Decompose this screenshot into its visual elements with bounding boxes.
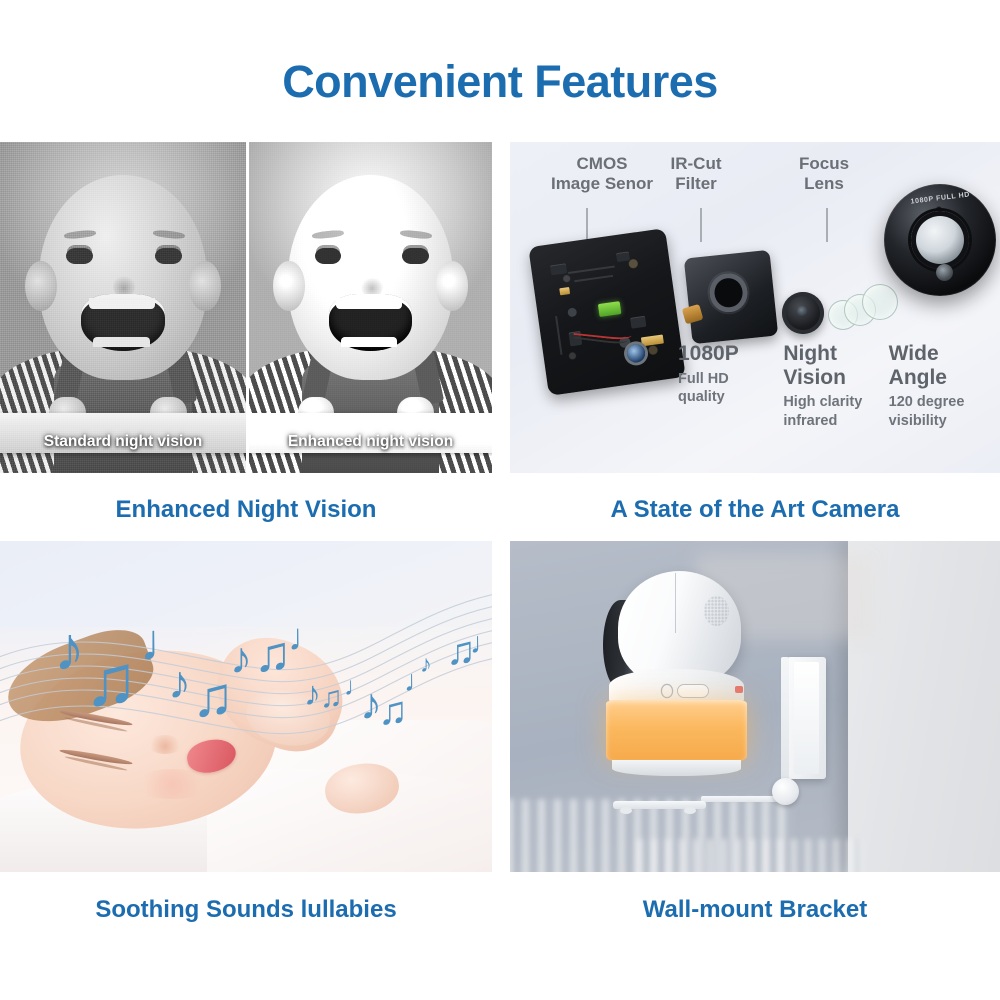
caption-enhanced-night-vision: Enhanced Night Vision [0, 496, 492, 524]
blurred-crib-rails-lower [637, 839, 862, 872]
caption-state-of-the-art-camera: A State of the Art Camera [510, 496, 1000, 524]
ir-cut-filter-module [684, 250, 779, 345]
caption-wall-mount-bracket: Wall-mount Bracket [510, 896, 1000, 924]
brightness-icon [662, 685, 672, 697]
camera-exploded-view-image: CMOS Image Senor IR-Cut Filter Focus Len… [510, 142, 1000, 473]
spec-resolution: 1080P Full HD quality [678, 342, 783, 430]
standard-night-vision-label: Standard night vision [0, 433, 246, 451]
music-note: ♪ [54, 619, 85, 681]
music-note: ♪ [420, 653, 432, 677]
speaker-grille [704, 596, 729, 626]
music-note: ♫ [254, 629, 292, 679]
lens-engraving-text: 1080P FULL HD [908, 191, 971, 206]
bracket-wall-plate [787, 657, 826, 779]
night-light-glow [606, 700, 747, 762]
music-note: ♪ [168, 659, 191, 705]
music-note: ♩ [470, 629, 492, 659]
baby-grayscale-enhanced [249, 142, 492, 473]
music-note: ♫ [84, 645, 138, 717]
music-note: ♪ [230, 637, 252, 681]
music-note: ♫ [320, 683, 343, 713]
spec-wide-angle: Wide Angle 120 degree visibility [889, 342, 994, 430]
baby-grayscale-standard [0, 142, 246, 473]
leader-line-ir-cut [700, 208, 702, 242]
label-ir-cut-filter: IR-Cut Filter [650, 154, 742, 194]
leader-line-cmos [586, 208, 588, 242]
spec-night-vision: Night Vision High clarity infrared [783, 342, 888, 430]
music-note: ♪ [304, 677, 321, 711]
enhanced-night-vision-half: Enhanced night vision [246, 142, 492, 473]
music-note: ♩ [288, 619, 326, 657]
status-led [735, 686, 742, 693]
soothing-sounds-image: ♪ ♫ ♩ ♪ ♫ ♪ ♫ ♩ ♪ ♫ ♩ ♪ ♫ ♩ ♪ ♫ ♩ ♪ [0, 541, 492, 872]
lens-barrel [782, 292, 824, 334]
music-staff-waves [0, 541, 492, 872]
wall-mount-bracket-image [510, 541, 1000, 872]
night-vision-comparison-image: Standard night vision Enhanced night vis… [0, 142, 492, 473]
music-note: ♫ [192, 669, 234, 725]
leader-line-focus-lens [826, 208, 828, 242]
cmos-sensor-board [528, 228, 686, 396]
page-title: Convenient Features [0, 56, 1000, 108]
lens-glass [911, 211, 969, 269]
baby-monitor-camera [603, 571, 750, 776]
standard-night-vision-half: Standard night vision [0, 142, 246, 473]
camera-control-button [677, 684, 709, 698]
camera-base [612, 760, 741, 776]
ir-led [936, 264, 953, 281]
enhanced-night-vision-label: Enhanced night vision [249, 433, 492, 451]
lens-housing-ring: 1080P FULL HD [884, 184, 996, 296]
glass-element-3 [862, 284, 898, 320]
label-focus-lens: Focus Lens [778, 154, 870, 194]
camera-spec-columns: 1080P Full HD quality Night Vision High … [678, 342, 994, 430]
caption-soothing-sounds: Soothing Sounds lullabies [0, 896, 492, 924]
